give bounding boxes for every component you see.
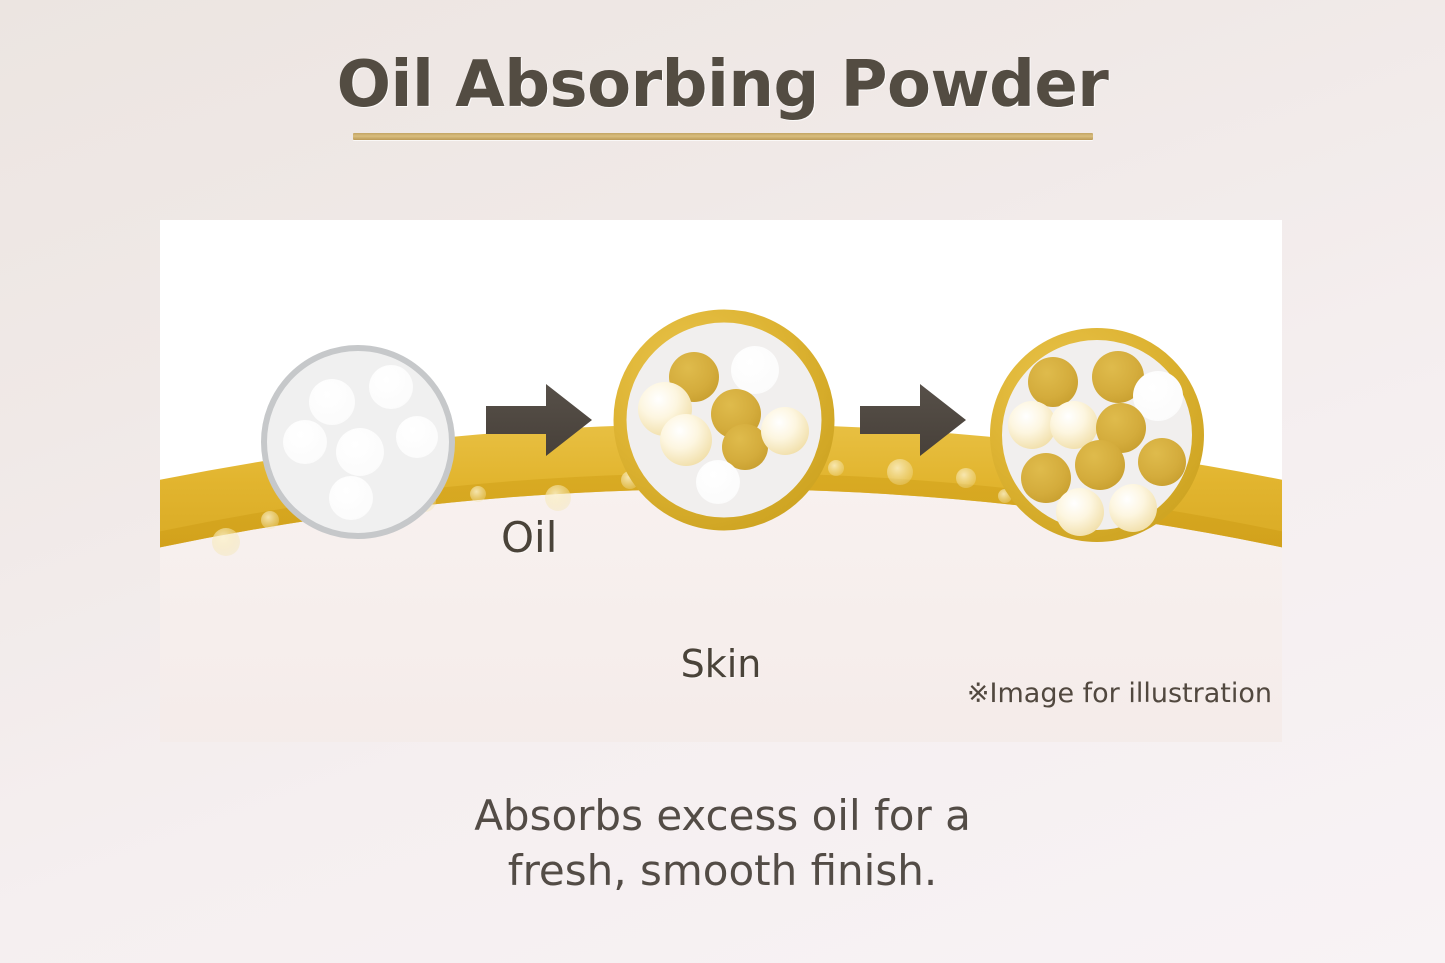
page-title: Oil Absorbing Powder bbox=[0, 52, 1445, 119]
stage-powder-absorbing bbox=[620, 316, 828, 524]
title-underline-rule bbox=[353, 133, 1093, 140]
title-block: Oil Absorbing Powder bbox=[0, 52, 1445, 140]
caption-block: Absorbs excess oil for a fresh, smooth f… bbox=[0, 788, 1445, 899]
oil-label: Oil bbox=[501, 517, 557, 559]
illustration-panel: Oil Skin ※Image for illustration bbox=[160, 220, 1282, 742]
illustration-note: ※Image for illustration bbox=[967, 680, 1272, 707]
stage-powder-before bbox=[264, 348, 452, 536]
stage-powder-saturated bbox=[996, 334, 1198, 536]
caption-line-1: Absorbs excess oil for a bbox=[0, 788, 1445, 843]
slide-root: Oil Absorbing Powder bbox=[0, 0, 1445, 963]
caption-line-2: fresh, smooth finish. bbox=[0, 843, 1445, 898]
